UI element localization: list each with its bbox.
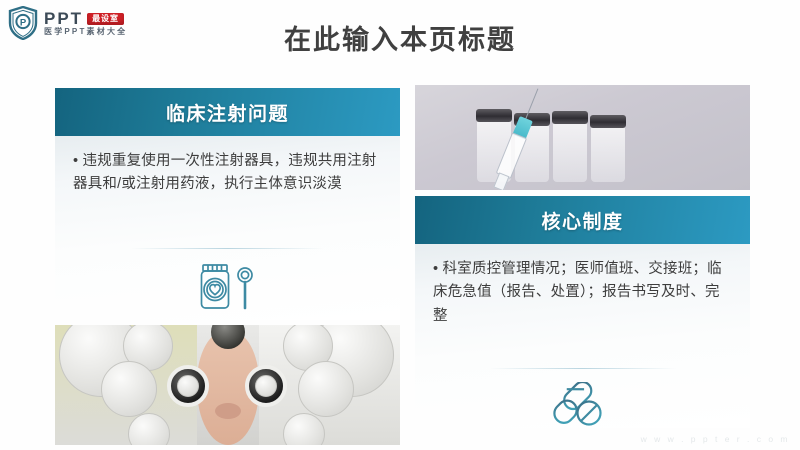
card-left-text: • 违规重复使用一次性注射器具，违规共用注射器具和/或注射用药液，执行主体意识淡…: [55, 136, 400, 197]
syringe-and-vials-photo: [415, 85, 750, 190]
card-clinical-injection: 临床注射问题 • 违规重复使用一次性注射器具，违规共用注射器具和/或注射用药液，…: [55, 88, 400, 320]
card-right-heading: 核心制度: [415, 196, 750, 244]
site-watermark: w w w . p p t e r . c o m: [641, 434, 790, 444]
card-right-body: • 科室质控管理情况；医师值班、交接班；临床危急值（报告、处置）；报告书写及时、…: [415, 244, 750, 428]
slide-canvas: P PPT 最设室 医学PPT素材大全 在此输入本页标题 临床注射问题 • 违规…: [0, 0, 800, 450]
card-left-heading: 临床注射问题: [55, 88, 400, 136]
page-title: 在此输入本页标题: [0, 18, 800, 57]
card-right-text: • 科室质控管理情况；医师值班、交接班；临床危急值（报告、处置）；报告书写及时、…: [415, 244, 750, 328]
card-right-divider: [489, 368, 677, 369]
card-left-body: • 违规重复使用一次性注射器具，违规共用注射器具和/或注射用药液，执行主体意识淡…: [55, 136, 400, 320]
phoropter-eye-exam-photo: [55, 325, 400, 445]
medicine-jar-spoon-icon: [55, 262, 400, 312]
card-core-system: 核心制度 • 科室质控管理情况；医师值班、交接班；临床危急值（报告、处置）；报告…: [415, 196, 750, 428]
card-left-divider: [131, 248, 324, 249]
capsule-pills-icon: [415, 382, 750, 430]
